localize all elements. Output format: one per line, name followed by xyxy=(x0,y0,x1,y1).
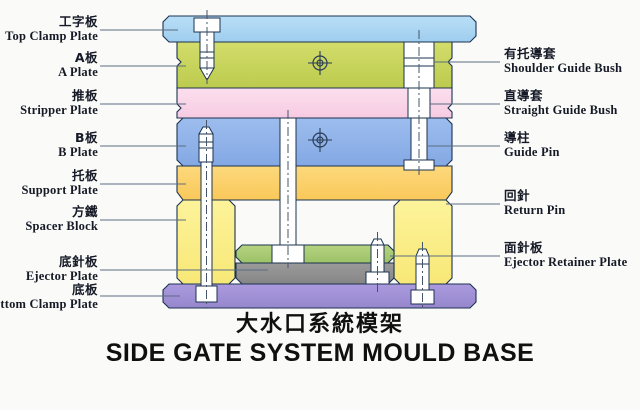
label-b-plate: B板 B Plate xyxy=(58,131,98,159)
mould-base-diagram: 工字板 Top Clamp Plate A板 A Plate 推板 Stripp… xyxy=(0,0,640,410)
label-ejector-plate-cn: 底針板 xyxy=(26,255,98,269)
label-support-plate: 托板 Support Plate xyxy=(21,169,98,197)
label-ejector-retainer-plate-cn: 面針板 xyxy=(504,241,627,255)
label-spacer-block-cn: 方鐵 xyxy=(25,205,98,219)
label-return-pin-en: Return Pin xyxy=(504,203,565,217)
label-shoulder-guide-bush: 有托導套 Shoulder Guide Bush xyxy=(504,47,622,75)
plate-ejector-retainer-plate xyxy=(236,245,394,263)
label-straight-guide-bush-cn: 直導套 xyxy=(504,89,618,103)
label-ejector-retainer-plate: 面針板 Ejector Retainer Plate xyxy=(504,241,627,269)
label-guide-pin-cn: 導柱 xyxy=(504,131,560,145)
label-support-plate-en: Support Plate xyxy=(21,183,98,197)
diagram-title: 大水口系統模架 SIDE GATE SYSTEM MOULD BASE xyxy=(0,312,640,368)
label-top-clamp-plate-en: Top Clamp Plate xyxy=(5,29,98,43)
label-support-plate-cn: 托板 xyxy=(21,169,98,183)
label-top-clamp-plate-cn: 工字板 xyxy=(5,15,98,29)
plate-support-plate xyxy=(177,166,452,200)
label-spacer-block: 方鐵 Spacer Block xyxy=(25,205,98,233)
label-ejector-retainer-plate-en: Ejector Retainer Plate xyxy=(504,255,627,269)
label-straight-guide-bush-en: Straight Guide Bush xyxy=(504,103,618,117)
label-shoulder-guide-bush-cn: 有托導套 xyxy=(504,47,622,61)
label-stripper-plate: 推板 Stripper Plate xyxy=(20,89,98,117)
label-a-plate: A板 A Plate xyxy=(58,51,98,79)
label-b-plate-cn: B板 xyxy=(58,131,98,145)
label-guide-pin: 導柱 Guide Pin xyxy=(504,131,560,159)
label-shoulder-guide-bush-en: Shoulder Guide Bush xyxy=(504,61,622,75)
label-ejector-plate: 底針板 Ejector Plate xyxy=(26,255,98,283)
label-return-pin-cn: 回針 xyxy=(504,189,565,203)
label-stripper-plate-cn: 推板 xyxy=(20,89,98,103)
diagram-title-cn: 大水口系統模架 xyxy=(0,312,640,338)
label-return-pin: 回針 Return Pin xyxy=(504,189,565,217)
label-guide-pin-en: Guide Pin xyxy=(504,145,560,159)
label-straight-guide-bush: 直導套 Straight Guide Bush xyxy=(504,89,618,117)
label-a-plate-cn: A板 xyxy=(58,51,98,65)
label-a-plate-en: A Plate xyxy=(58,65,98,79)
label-spacer-block-en: Spacer Block xyxy=(25,219,98,233)
label-top-clamp-plate: 工字板 Top Clamp Plate xyxy=(5,15,98,43)
label-ejector-plate-en: Ejector Plate xyxy=(26,269,98,283)
label-bottom-clamp-plate-en: Bottom Clamp Plate xyxy=(0,297,98,311)
diagram-title-en: SIDE GATE SYSTEM MOULD BASE xyxy=(0,338,640,368)
label-stripper-plate-en: Stripper Plate xyxy=(20,103,98,117)
label-bottom-clamp-plate: 底板 Bottom Clamp Plate xyxy=(0,283,98,311)
label-b-plate-en: B Plate xyxy=(58,145,98,159)
label-bottom-clamp-plate-cn: 底板 xyxy=(0,283,98,297)
